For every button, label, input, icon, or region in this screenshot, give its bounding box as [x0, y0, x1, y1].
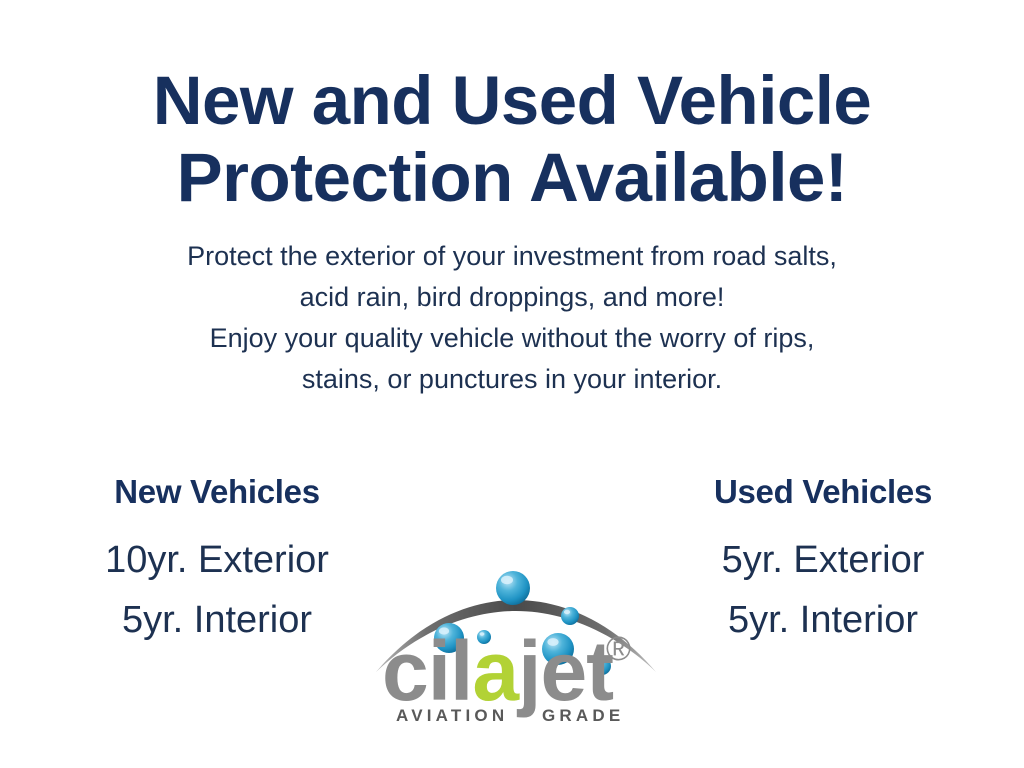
page-title: New and Used Vehicle Protection Availabl… — [0, 62, 1024, 216]
logo-tagline-right: GRADE — [542, 706, 624, 725]
subtitle-line-2: acid rain, bird droppings, and more! — [0, 277, 1024, 318]
subtitle-block: Protect the exterior of your investment … — [0, 236, 1024, 400]
used-vehicles-column: Used Vehicles 5yr. Exterior 5yr. Interio… — [658, 472, 988, 650]
logo-tagline-left: AVIATION — [396, 706, 508, 725]
subtitle-line-3: Enjoy your quality vehicle without the w… — [0, 318, 1024, 359]
logo-wordmark-prefix: cil — [382, 624, 472, 718]
logo-wordmark: cilajet — [382, 624, 613, 718]
used-vehicles-heading: Used Vehicles — [658, 472, 988, 512]
subtitle-line-4: stains, or punctures in your interior. — [0, 359, 1024, 400]
new-vehicles-interior: 5yr. Interior — [52, 590, 382, 650]
headline-line-2: Protection Available! — [0, 139, 1024, 216]
slide-canvas: New and Used Vehicle Protection Availabl… — [0, 0, 1024, 768]
registered-trademark-icon: ® — [606, 630, 631, 668]
cilajet-logo: cilajet ® AVIATION GRADE — [374, 552, 658, 727]
used-vehicles-exterior: 5yr. Exterior — [658, 530, 988, 590]
cilajet-logo-svg: cilajet ® AVIATION GRADE — [374, 552, 658, 727]
new-vehicles-column: New Vehicles 10yr. Exterior 5yr. Interio… — [52, 472, 382, 650]
used-vehicles-interior: 5yr. Interior — [658, 590, 988, 650]
subtitle-line-1: Protect the exterior of your investment … — [0, 236, 1024, 277]
headline-line-1: New and Used Vehicle — [0, 62, 1024, 139]
logo-wordmark-suffix: jet — [516, 624, 613, 718]
logo-wordmark-accent: a — [472, 624, 520, 718]
new-vehicles-heading: New Vehicles — [52, 472, 382, 512]
new-vehicles-exterior: 10yr. Exterior — [52, 530, 382, 590]
